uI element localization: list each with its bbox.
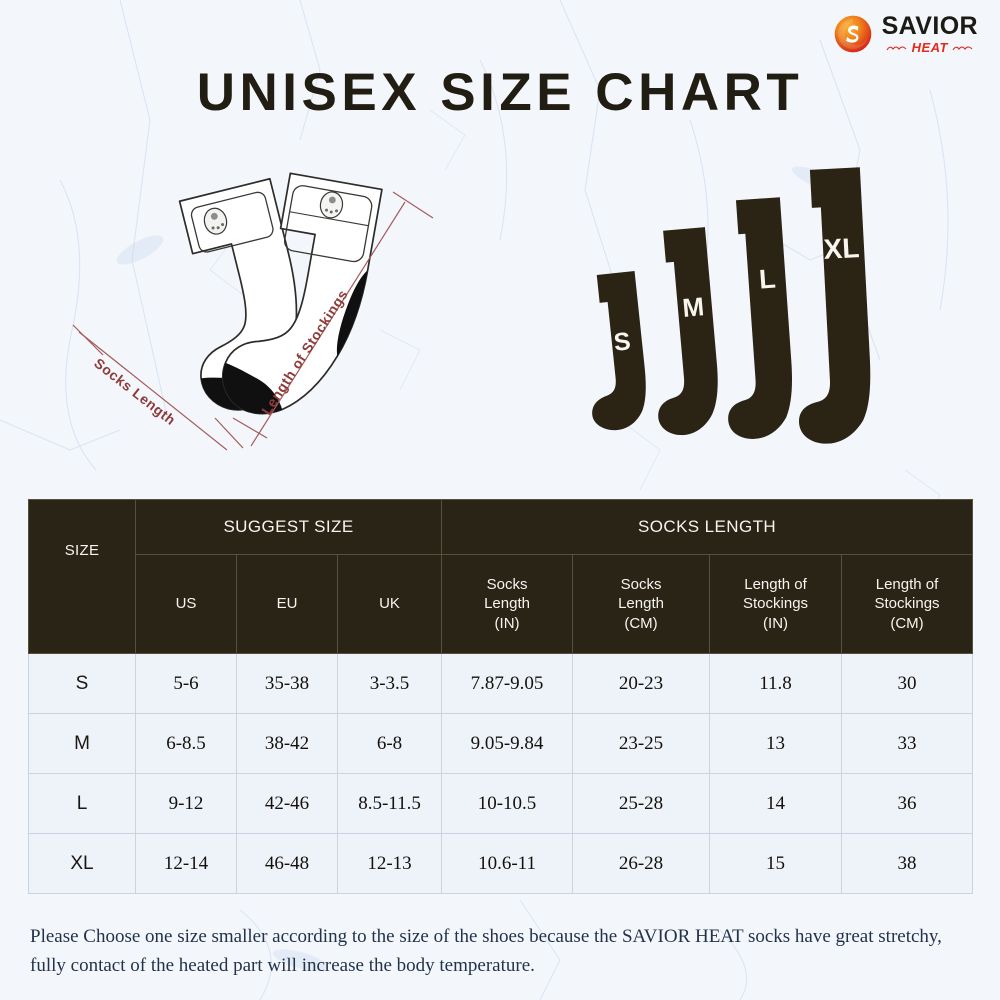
cell-size: M	[29, 714, 136, 774]
cell-stockings-length-in: 11.8	[710, 654, 842, 714]
header-line-2: Length	[575, 594, 707, 613]
size-silhouettes-illustration: S M L XL	[580, 150, 920, 480]
cell-eu: 38-42	[237, 714, 338, 774]
header-line-3: (IN)	[712, 614, 839, 633]
silhouette-label-s: S	[612, 327, 632, 357]
swirl-s-logo-icon	[833, 14, 873, 54]
cell-socks-length-cm: 25-28	[573, 774, 710, 834]
silhouette-m	[642, 227, 723, 437]
size-chart-table: SIZE SUGGEST SIZE SOCKS LENGTH US EU UK …	[28, 499, 973, 894]
header-line-1: Length of	[844, 575, 970, 594]
cell-stockings-length-in: 13	[710, 714, 842, 774]
cell-socks-length-in: 7.87-9.05	[442, 654, 573, 714]
sizing-note: Please Choose one size smaller according…	[30, 922, 970, 981]
header-line-1: Socks	[575, 575, 707, 594]
header-stockings-length-in: Length of Stockings (IN)	[710, 555, 842, 654]
table-header-group-row: SIZE SUGGEST SIZE SOCKS LENGTH	[29, 500, 973, 555]
table-row: S 5-6 35-38 3-3.5 7.87-9.05 20-23 11.8 3…	[29, 654, 973, 714]
cell-size: L	[29, 774, 136, 834]
header-suggest-size: SUGGEST SIZE	[136, 500, 442, 555]
page-title: UNISEX SIZE CHART	[0, 62, 1000, 123]
cell-eu: 42-46	[237, 774, 338, 834]
brand-logo: SAVIOR HEAT	[833, 14, 978, 54]
header-socks-length-in: Socks Length (IN)	[442, 555, 573, 654]
cell-stockings-length-cm: 36	[842, 774, 973, 834]
table-row: XL 12-14 46-48 12-13 10.6-11 26-28 15 38	[29, 834, 973, 894]
cell-uk: 12-13	[338, 834, 442, 894]
header-socks-length: SOCKS LENGTH	[442, 500, 973, 555]
header-socks-length-cm: Socks Length (CM)	[573, 555, 710, 654]
cell-socks-length-in: 10.6-11	[442, 834, 573, 894]
header-size: SIZE	[29, 500, 136, 654]
header-line-1: Length of	[712, 575, 839, 594]
cell-uk: 6-8	[338, 714, 442, 774]
silhouette-xl	[786, 167, 874, 445]
cell-us: 6-8.5	[136, 714, 237, 774]
header-line-3: (CM)	[844, 614, 970, 633]
cell-size: XL	[29, 834, 136, 894]
cell-eu: 35-38	[237, 654, 338, 714]
header-line-2: Stockings	[844, 594, 970, 613]
silhouette-label-l: L	[758, 263, 777, 294]
table-body: S 5-6 35-38 3-3.5 7.87-9.05 20-23 11.8 3…	[29, 654, 973, 894]
heated-socks-linework-illustration: Socks Length Length of Stockings	[55, 150, 465, 480]
table-row: L 9-12 42-46 8.5-11.5 10-10.5 25-28 14 3…	[29, 774, 973, 834]
cell-us: 12-14	[136, 834, 237, 894]
cell-socks-length-cm: 20-23	[573, 654, 710, 714]
cell-socks-length-cm: 26-28	[573, 834, 710, 894]
header-stockings-length-cm: Length of Stockings (CM)	[842, 555, 973, 654]
cell-stockings-length-in: 14	[710, 774, 842, 834]
header-eu: EU	[237, 555, 338, 654]
cell-size: S	[29, 654, 136, 714]
table-row: M 6-8.5 38-42 6-8 9.05-9.84 23-25 13 33	[29, 714, 973, 774]
cell-socks-length-in: 9.05-9.84	[442, 714, 573, 774]
cell-stockings-length-cm: 30	[842, 654, 973, 714]
silhouette-label-xl: XL	[823, 232, 860, 265]
header-line-1: Socks	[444, 575, 570, 594]
logo-sub-name: HEAT	[912, 41, 948, 54]
header-line-2: Stockings	[712, 594, 839, 613]
flame-wave-left-icon	[886, 44, 908, 52]
cell-uk: 3-3.5	[338, 654, 442, 714]
header-uk: UK	[338, 555, 442, 654]
cell-us: 9-12	[136, 774, 237, 834]
size-chart-table-container: SIZE SUGGEST SIZE SOCKS LENGTH US EU UK …	[28, 499, 972, 894]
illustration-area: Socks Length Length of Stockings S M L X…	[0, 150, 1000, 495]
cell-stockings-length-in: 15	[710, 834, 842, 894]
silhouette-label-m: M	[681, 291, 705, 323]
cell-stockings-length-cm: 38	[842, 834, 973, 894]
flame-wave-right-icon	[952, 44, 974, 52]
cell-stockings-length-cm: 33	[842, 714, 973, 774]
header-us: US	[136, 555, 237, 654]
cell-us: 5-6	[136, 654, 237, 714]
table-header-sub-row: US EU UK Socks Length (IN) Socks Length …	[29, 555, 973, 654]
silhouette-l	[713, 197, 797, 440]
socks-length-annotation-label: Socks Length	[91, 355, 179, 429]
cell-socks-length-cm: 23-25	[573, 714, 710, 774]
header-line-3: (IN)	[444, 614, 570, 633]
header-line-2: Length	[444, 594, 570, 613]
cell-socks-length-in: 10-10.5	[442, 774, 573, 834]
logo-brand-name: SAVIOR	[882, 14, 978, 39]
cell-eu: 46-48	[237, 834, 338, 894]
cell-uk: 8.5-11.5	[338, 774, 442, 834]
header-line-3: (CM)	[575, 614, 707, 633]
